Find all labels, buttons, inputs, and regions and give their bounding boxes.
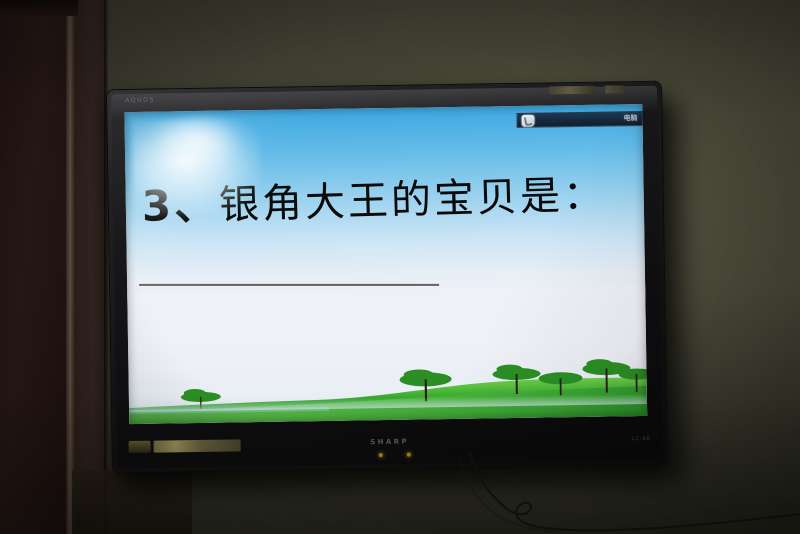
photo-scene: AQUOS <box>0 0 800 534</box>
photo-vignette <box>0 0 800 534</box>
